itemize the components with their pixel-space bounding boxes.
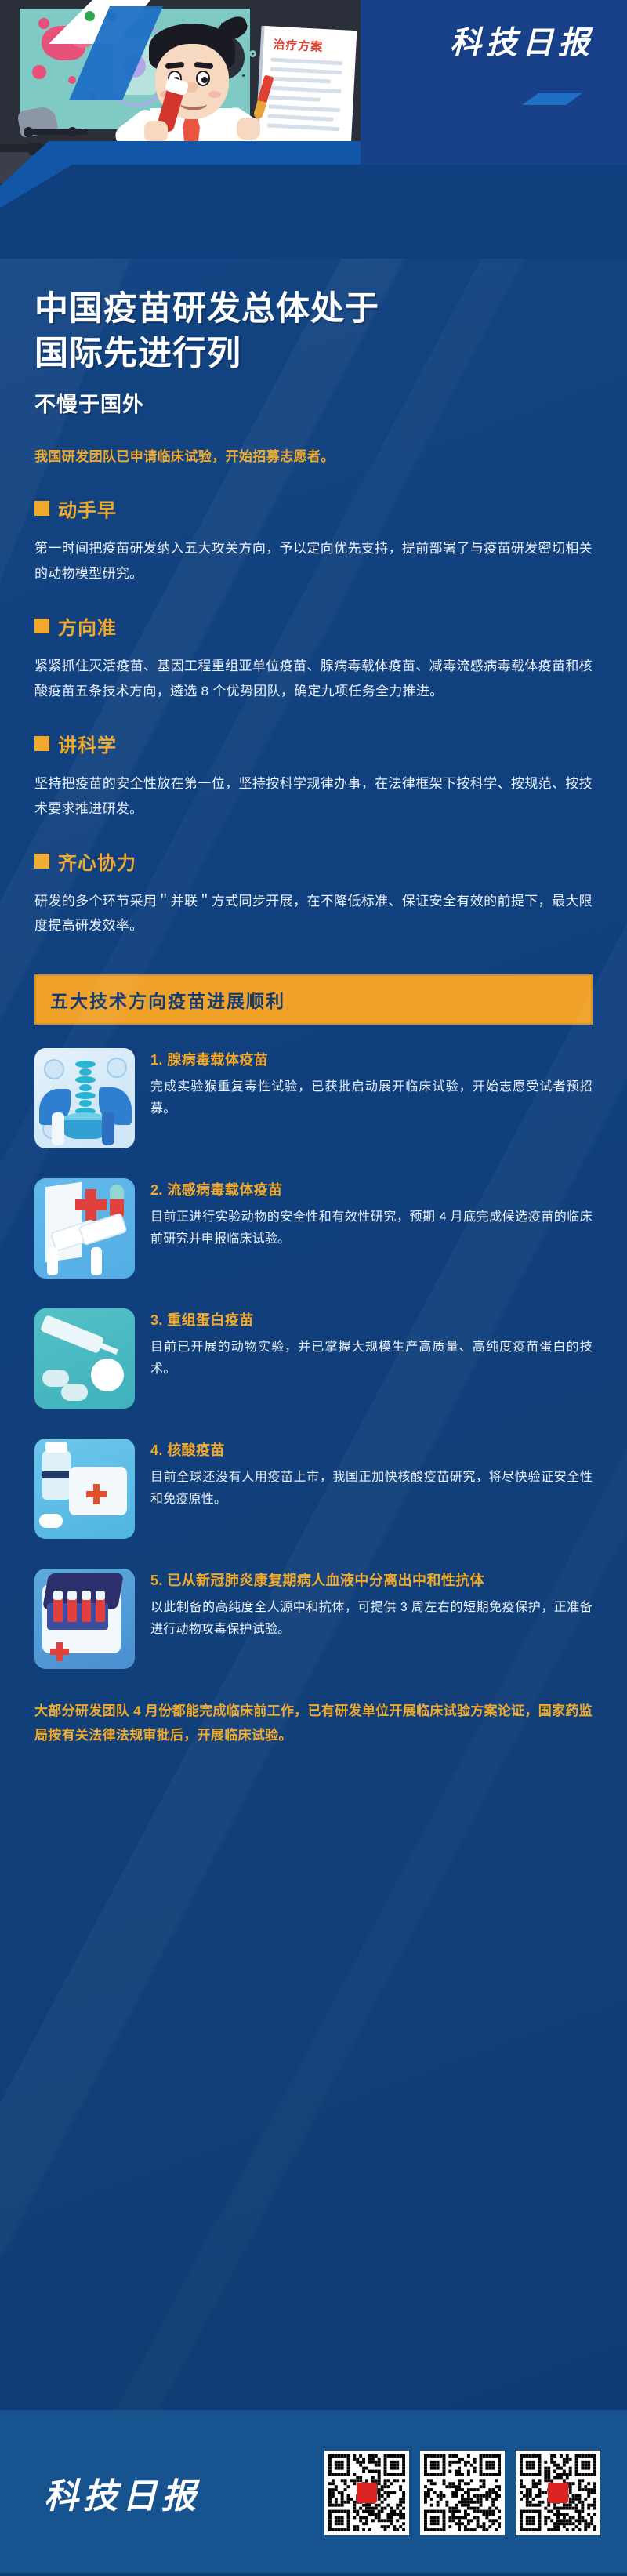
- section-2-heading: 方向准: [34, 612, 593, 640]
- lead-paragraph: 我国研发团队已申请临床试验，开始招募志愿者。: [34, 446, 593, 469]
- qr-code-2[interactable]: [420, 2451, 505, 2535]
- paper-title: 治疗方案: [273, 36, 324, 55]
- footer-bottom-strip: [0, 2573, 627, 2576]
- list-item: 5. 已从新冠肺炎康复期病人血液中分离出中和性抗体 以此制备的高纯度全人源中和抗…: [34, 1569, 593, 1669]
- section-3: 讲科学 坚持把疫苗的安全性放在第一位，坚持按科学规律办事，在法律框架下按科学、按…: [34, 730, 593, 821]
- hospital-pills-icon: [34, 1178, 135, 1279]
- list-item-title-label: 核酸疫苗: [167, 1442, 225, 1458]
- bullet-square-icon: [34, 854, 49, 869]
- list-item: 3. 重组蛋白疫苗 目前已开展的动物实验，并已掌握大规模生产高质量、高纯度疫苗蛋…: [34, 1308, 593, 1409]
- section-4-heading-label: 齐心协力: [58, 847, 136, 875]
- list-item: 2. 流感病毒载体疫苗 目前正进行实验动物的安全性和有效性研究，预期 4 月底完…: [34, 1178, 593, 1279]
- bullet-square-icon: [34, 501, 49, 516]
- list-item-title-label: 重组蛋白疫苗: [167, 1312, 253, 1328]
- section-1-heading: 动手早: [34, 495, 593, 522]
- bullet-square-icon: [34, 736, 49, 751]
- qr-center-badge: [548, 2483, 568, 2503]
- section-2-heading-label: 方向准: [58, 612, 117, 640]
- dna-helix-icon: [34, 1048, 135, 1148]
- list-item-text: 3. 重组蛋白疫苗 目前已开展的动物实验，并已掌握大规模生产高质量、高纯度疫苗蛋…: [150, 1308, 593, 1409]
- list-item-text: 1. 腺病毒载体疫苗 完成实验猴重复毒性试验，已获批启动展开临床试验，开始志愿受…: [150, 1048, 593, 1148]
- qr-code-3[interactable]: [516, 2451, 600, 2535]
- list-item-text: 2. 流感病毒载体疫苗 目前正进行实验动物的安全性和有效性研究，预期 4 月底完…: [150, 1178, 593, 1279]
- page-title: 中国疫苗研发总体处于 国际先进行列: [34, 287, 593, 376]
- section-1: 动手早 第一时间把疫苗研发纳入五大攻关方向，予以定向优先支持，提前部署了与疫苗研…: [34, 495, 593, 586]
- section-2: 方向准 紧紧抓住灭活疫苗、基因工程重组亚单位疫苗、腺病毒载体疫苗、减毒流感病毒载…: [34, 612, 593, 703]
- list-item-title-label: 流感病毒载体疫苗: [167, 1182, 282, 1198]
- section-1-body: 第一时间把疫苗研发纳入五大攻关方向，予以定向优先支持，提前部署了与疫苗研发密切相…: [34, 536, 593, 586]
- page-subtitle: 不慢于国外: [34, 387, 593, 418]
- section-2-body: 紧紧抓住灭活疫苗、基因工程重组亚单位疫苗、腺病毒载体疫苗、减毒流感病毒载体疫苗和…: [34, 654, 593, 703]
- list-item-title: 2. 流感病毒载体疫苗: [150, 1180, 593, 1202]
- list-item-title: 1. 腺病毒载体疫苗: [150, 1050, 593, 1072]
- list-item-number: 5.: [150, 1573, 163, 1588]
- footer-logo: 科技日报: [44, 2468, 201, 2518]
- section-1-heading-label: 动手早: [58, 495, 117, 522]
- list-item-text: 4. 核酸疫苗 目前全球还没有人用疫苗上市，我国正加快核酸疫苗研究，将尽快验证安…: [150, 1439, 593, 1539]
- list-item-title-label: 腺病毒载体疫苗: [167, 1052, 268, 1068]
- list-item-desc: 目前正进行实验动物的安全性和有效性研究，预期 4 月底完成候选疫苗的临床前研究并…: [150, 1206, 593, 1251]
- section-3-heading: 讲科学: [34, 730, 593, 757]
- list-item-text: 5. 已从新冠肺炎康复期病人血液中分离出中和性抗体 以此制备的高纯度全人源中和抗…: [150, 1569, 593, 1669]
- list-item-desc: 目前已开展的动物实验，并已掌握大规模生产高质量、高纯度疫苗蛋白的技术。: [150, 1337, 593, 1381]
- section-3-body: 坚持把疫苗的安全性放在第一位，坚持按科学规律办事，在法律框架下按科学、按规范、按…: [34, 771, 593, 821]
- list-item-title: 4. 核酸疫苗: [150, 1440, 593, 1462]
- hero-banner: 治疗方案: [0, 0, 627, 259]
- infographic-page: 治疗方案: [0, 0, 627, 2576]
- masthead-logo: 科技日报: [450, 17, 594, 63]
- list-item: 1. 腺病毒载体疫苗 完成实验猴重复毒性试验，已获批启动展开临床试验，开始志愿受…: [34, 1048, 593, 1148]
- section-3-heading-label: 讲科学: [58, 730, 117, 757]
- list-item-title: 3. 重组蛋白疫苗: [150, 1310, 593, 1332]
- page-title-line-1: 中国疫苗研发总体处于: [34, 287, 593, 332]
- section-4: 齐心协力 研发的多个环节采用＂并联＂方式同步开展，在不降低标准、保证安全有效的前…: [34, 847, 593, 938]
- list-item-title-label: 已从新冠肺炎康复期病人血液中分离出中和性抗体: [167, 1573, 484, 1588]
- qr-code-row: [324, 2451, 600, 2535]
- list-item-desc: 完成实验猴重复毒性试验，已获批启动展开临床试验，开始志愿受试者预招募。: [150, 1076, 593, 1121]
- bullet-square-icon: [34, 619, 49, 633]
- list-item-number: 2.: [150, 1182, 163, 1198]
- list-item-title: 5. 已从新冠肺炎康复期病人血液中分离出中和性抗体: [150, 1570, 593, 1592]
- vaccine-vials-case-icon: [34, 1569, 135, 1669]
- section-4-heading: 齐心协力: [34, 847, 593, 875]
- list-item-desc: 以此制备的高纯度全人源中和抗体，可提供 3 周左右的短期免疫保护，正准备进行动物…: [150, 1597, 593, 1642]
- decorative-arrow: [522, 93, 583, 105]
- section-4-body: 研发的多个环节采用＂并联＂方式同步开展，在不降低标准、保证安全有效的前提下，最大…: [34, 889, 593, 938]
- first-aid-kit-icon: [34, 1439, 135, 1539]
- list-item-number: 1.: [150, 1052, 163, 1068]
- list-item-number: 4.: [150, 1442, 163, 1458]
- qr-code-1[interactable]: [324, 2451, 409, 2535]
- vaccine-items-list: 1. 腺病毒载体疫苗 完成实验猴重复毒性试验，已获批启动展开临床试验，开始志愿受…: [34, 1048, 593, 1669]
- banner-wrapper: 五大技术方向疫苗进展顺利: [34, 974, 593, 1025]
- footer: 科技日报: [0, 2410, 627, 2576]
- title-block: 中国疫苗研发总体处于 国际先进行列 不慢于国外: [0, 259, 627, 418]
- list-item: 4. 核酸疫苗 目前全球还没有人用疫苗上市，我国正加快核酸疫苗研究，将尽快验证安…: [34, 1439, 593, 1539]
- progress-banner: 五大技术方向疫苗进展顺利: [34, 974, 593, 1025]
- list-item-desc: 目前全球还没有人用疫苗上市，我国正加快核酸疫苗研究，将尽快验证安全性和免疫原性。: [150, 1467, 593, 1511]
- list-item-number: 3.: [150, 1312, 163, 1328]
- closing-paragraph: 大部分研发团队 4 月份都能完成临床前工作，已有研发单位开展临床试验方案论证，国…: [34, 1699, 593, 1748]
- page-title-line-2: 国际先进行列: [34, 332, 593, 376]
- syringe-icon: [34, 1308, 135, 1409]
- qr-center-badge: [357, 2483, 377, 2503]
